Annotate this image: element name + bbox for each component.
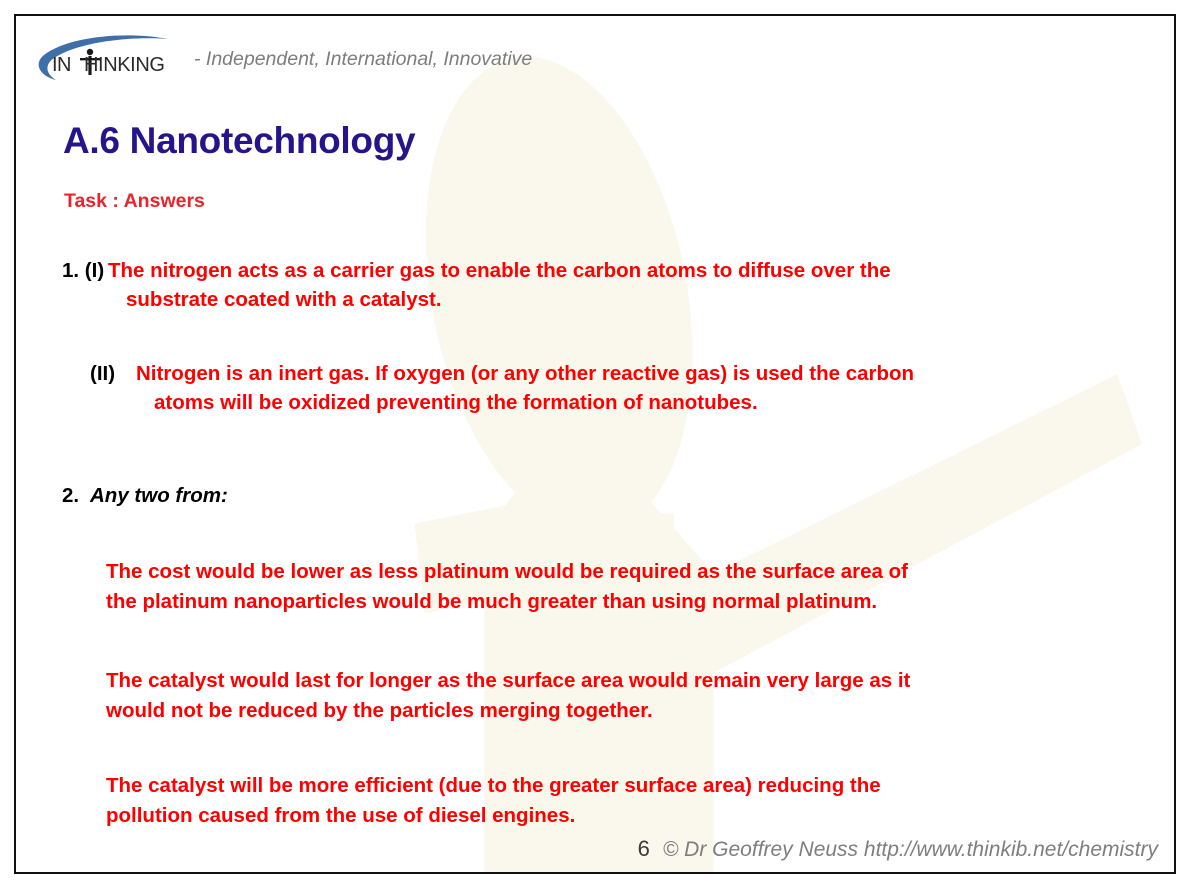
answer-line: the platinum nanoparticles would be much… bbox=[106, 587, 908, 617]
question-marker: 2. bbox=[62, 481, 90, 510]
answer-line: pollution caused from the use of diesel … bbox=[106, 801, 881, 831]
question-answer-text: The nitrogen acts as a carrier gas to en… bbox=[108, 256, 891, 314]
page-number: 6 bbox=[638, 836, 650, 862]
answer-line: would not be reduced by the particles me… bbox=[106, 696, 910, 726]
slide-frame: INHINKING - Independent, International, … bbox=[14, 14, 1176, 874]
question-2: 2. Any two from: bbox=[62, 481, 228, 510]
slide-footer: 6 © Dr Geoffrey Neuss http://www.thinkib… bbox=[638, 836, 1158, 862]
question-answer-text: Nitrogen is an inert gas. If oxygen (or … bbox=[136, 359, 914, 417]
question-1-part-i: 1. (I) The nitrogen acts as a carrier ga… bbox=[62, 256, 891, 314]
question-1-part-ii: (II) Nitrogen is an inert gas. If oxygen… bbox=[90, 359, 914, 417]
answer-line: The cost would be lower as less platinum… bbox=[106, 557, 908, 587]
question-2-answer-1: The cost would be lower as less platinum… bbox=[106, 557, 908, 617]
question-2-answer-2: The catalyst would last for longer as th… bbox=[106, 666, 910, 726]
question-marker: 1. (I) bbox=[62, 256, 108, 285]
answer-line: Nitrogen is an inert gas. If oxygen (or … bbox=[136, 359, 914, 388]
answer-line: atoms will be oxidized preventing the fo… bbox=[154, 388, 914, 417]
question-marker: (II) bbox=[90, 359, 136, 388]
copyright-notice: © Dr Geoffrey Neuss http://www.thinkib.n… bbox=[663, 838, 1158, 862]
slide-body: 1. (I) The nitrogen acts as a carrier ga… bbox=[16, 16, 1174, 872]
answer-line: The catalyst will be more efficient (due… bbox=[106, 771, 881, 801]
answer-line: The nitrogen acts as a carrier gas to en… bbox=[108, 256, 891, 285]
question-2-answer-3: The catalyst will be more efficient (due… bbox=[106, 771, 881, 831]
answer-line: substrate coated with a catalyst. bbox=[126, 285, 891, 314]
answer-line: The catalyst would last for longer as th… bbox=[106, 666, 910, 696]
question-2-prompt: Any two from: bbox=[90, 481, 228, 510]
